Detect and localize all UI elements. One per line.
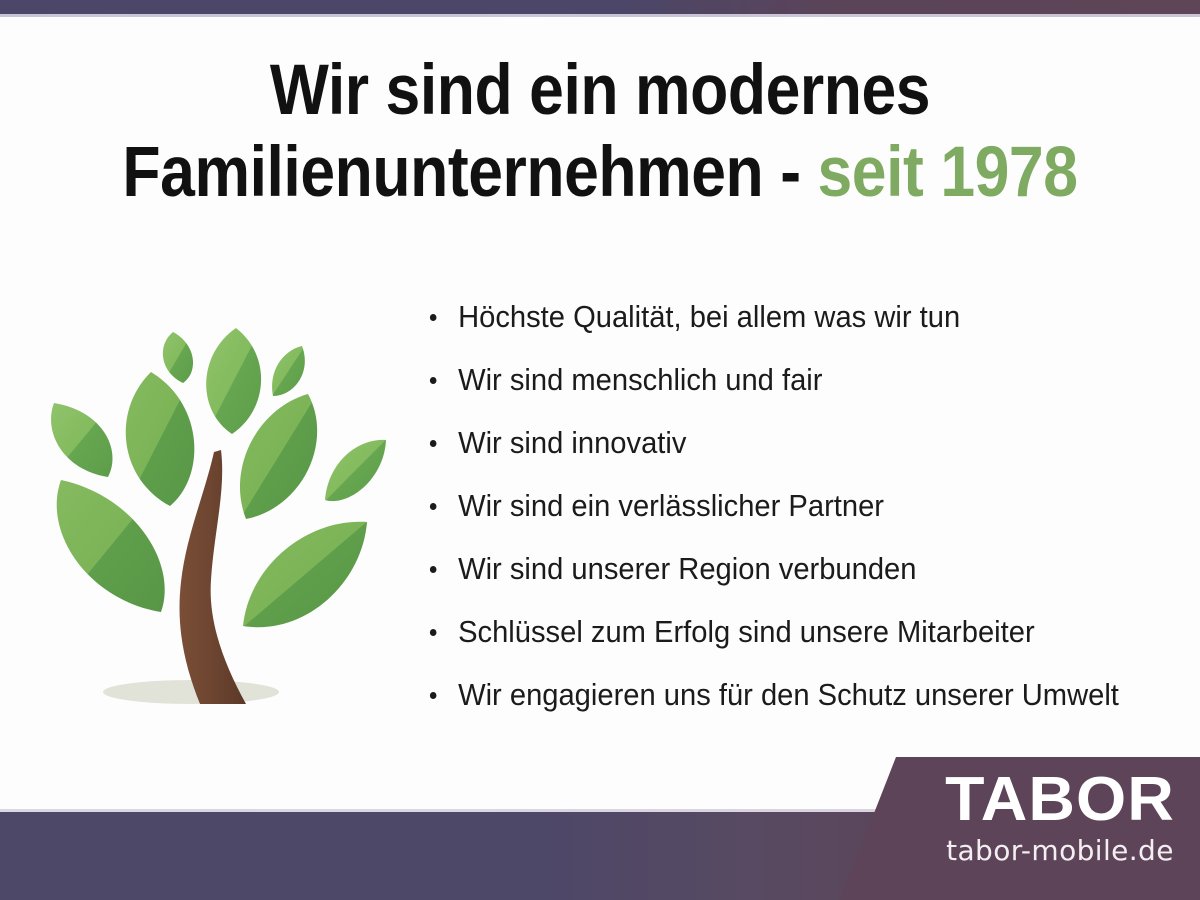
page-title-line-2: Familienunternehmen - seit 1978 <box>72 132 1128 214</box>
tree-svg <box>18 300 418 720</box>
brand-wordmark: TABOR <box>914 767 1200 833</box>
tree-leaf-upper-left <box>126 372 195 506</box>
list-item-label: Wir sind menschlich und fair <box>458 362 822 397</box>
bullet-dot-icon <box>430 503 437 510</box>
list-item: Wir engagieren uns für den Schutz unsere… <box>428 663 1142 726</box>
bullet-dot-icon <box>430 629 437 636</box>
top-accent-bar <box>0 0 1200 14</box>
list-item-label: Wir sind innovativ <box>458 425 686 460</box>
page-title-line-1: Wir sind ein modernes <box>72 50 1128 132</box>
bullet-dot-icon <box>430 314 437 321</box>
bullet-dot-icon <box>430 377 437 384</box>
tree-leaf-top-left-small <box>163 332 193 383</box>
list-item: Wir sind innovativ <box>428 411 1142 474</box>
tree-illustration <box>18 300 418 720</box>
tree-leaf-lower-right <box>243 522 367 627</box>
tree-leaf-lower-left <box>57 480 165 612</box>
tree-leaf-right-slim <box>325 440 386 501</box>
page-title-accent: seit 1978 <box>817 133 1077 212</box>
bullet-dot-icon <box>430 692 437 699</box>
brand-logo-panel: TABOR tabor-mobile.de <box>830 757 1200 900</box>
slide-canvas: Wir sind ein modernes Familienunternehme… <box>0 0 1200 900</box>
bullet-dot-icon <box>430 440 437 447</box>
list-item-label: Wir sind ein verlässlicher Partner <box>458 488 884 523</box>
list-item-label: Schlüssel zum Erfolg sind unsere Mitarbe… <box>458 614 1035 649</box>
list-item: Höchste Qualität, bei allem was wir tun <box>428 285 1142 348</box>
tree-trunk <box>180 450 246 704</box>
bullet-list: Höchste Qualität, bei allem was wir tun … <box>428 285 1188 726</box>
list-item: Schlüssel zum Erfolg sind unsere Mitarbe… <box>428 600 1142 663</box>
list-item-label: Höchste Qualität, bei allem was wir tun <box>458 299 960 334</box>
page-title: Wir sind ein modernes Familienunternehme… <box>72 50 1128 214</box>
list-item-label: Wir engagieren uns für den Schutz unsere… <box>458 677 1119 712</box>
tree-leaf-top-center <box>206 328 261 434</box>
tree-leaf-left-slim <box>51 403 112 477</box>
tree-leaf-top-right-small <box>272 346 305 396</box>
brand-website-url: tabor-mobile.de <box>920 835 1200 867</box>
list-item-label: Wir sind unserer Region verbunden <box>458 551 916 586</box>
page-title-line-2-plain: Familienunternehmen - <box>122 133 817 212</box>
list-item: Wir sind unserer Region verbunden <box>428 537 1142 600</box>
bullet-dot-icon <box>430 566 437 573</box>
list-item: Wir sind menschlich und fair <box>428 348 1142 411</box>
top-accent-bar-highlight <box>0 14 1200 17</box>
list-item: Wir sind ein verlässlicher Partner <box>428 474 1142 537</box>
logo-text-group: TABOR tabor-mobile.de <box>920 767 1200 867</box>
tree-ground-shadow <box>103 680 279 704</box>
